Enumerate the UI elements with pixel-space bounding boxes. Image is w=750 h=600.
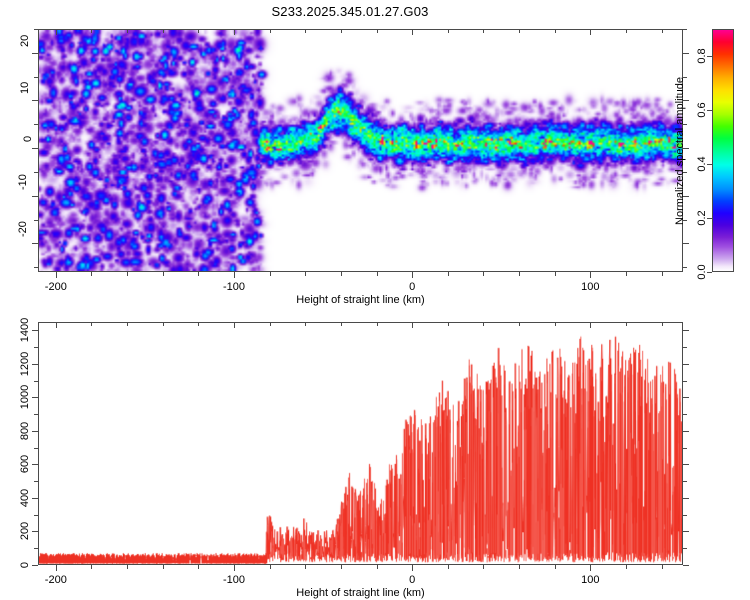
tick-x [127, 272, 128, 276]
tick-x [448, 272, 449, 276]
tick-x [519, 272, 520, 276]
tick-y-right [683, 431, 689, 432]
ytick-label: 600 [19, 455, 31, 473]
tick-x [412, 272, 413, 278]
xtick-label: 0 [409, 574, 415, 586]
xtick-label: 100 [581, 281, 599, 293]
tick-y-right [683, 548, 687, 549]
snr-plot-area [38, 322, 683, 565]
tick-x [91, 272, 92, 276]
tick-x [270, 272, 271, 276]
ytick-label: 400 [19, 489, 31, 507]
tick-x [127, 565, 128, 569]
tick-x [91, 565, 92, 569]
tick-x [198, 565, 199, 569]
tick-y-right [683, 531, 689, 532]
tick-x [590, 565, 591, 571]
tick-x [555, 272, 556, 276]
snr-canvas [39, 323, 682, 564]
tick-x [519, 565, 520, 569]
tick-x [377, 272, 378, 276]
figure-title: S233.2025.345.01.27.G03 [0, 4, 700, 19]
ytick-label: 10 [19, 82, 31, 94]
tick-x [56, 272, 57, 278]
tick-x [662, 565, 663, 569]
tick-y-right [683, 565, 689, 566]
xtick-label: -200 [45, 281, 67, 293]
ytick-label: 800 [19, 422, 31, 440]
tick-x [662, 272, 663, 276]
tick-x [483, 565, 484, 569]
tick-x [412, 565, 413, 571]
colorbar-title: Normalized spectral amplitude [674, 77, 686, 225]
colorbar-tick [707, 272, 712, 273]
tick-y-right [683, 364, 689, 365]
tick-y-right [683, 498, 689, 499]
ytick-label: 200 [19, 522, 31, 540]
colorbar-tick-label: 0.2 [696, 210, 708, 225]
tick-x [163, 565, 164, 569]
ytick-label: 0 [22, 136, 34, 142]
tick-y-right [683, 381, 687, 382]
tick-y-right [683, 29, 687, 30]
tick-x [198, 272, 199, 276]
ytick-label: 1000 [19, 385, 31, 409]
xtick-label: -100 [223, 281, 245, 293]
tick-x [626, 272, 627, 276]
ytick-label: 1400 [19, 318, 31, 342]
xtick-label: 0 [409, 281, 415, 293]
tick-x [341, 565, 342, 569]
tick-y-right [683, 53, 689, 54]
tick-x [448, 565, 449, 569]
figure-root: S233.2025.345.01.27.G03 -200-1000100-20-… [0, 0, 750, 600]
spectrogram-canvas [39, 30, 682, 271]
tick-x [483, 272, 484, 276]
tick-x [555, 565, 556, 569]
tick-y-right [683, 481, 687, 482]
snr-xaxis-title: Height of straight line (km) [296, 587, 424, 599]
tick-y-right [683, 243, 689, 244]
ytick-label: -20 [17, 222, 29, 238]
xtick-label: 100 [581, 574, 599, 586]
tick-x [234, 565, 235, 571]
tick-y-right [683, 267, 687, 268]
spectrogram-xaxis-title: Height of straight line (km) [296, 294, 424, 306]
tick-x [590, 272, 591, 278]
tick-y-right [683, 448, 687, 449]
tick-y-right [683, 414, 687, 415]
ytick-label: 20 [19, 35, 31, 47]
tick-y-right [683, 515, 687, 516]
tick-x [305, 565, 306, 569]
tick-x [377, 565, 378, 569]
tick-y-right [683, 347, 687, 348]
tick-x [234, 272, 235, 278]
ytick-label: 1200 [19, 352, 31, 376]
colorbar-tick-label: 0.8 [696, 48, 708, 63]
colorbar-tick-label: 0.6 [696, 102, 708, 117]
colorbar-tick-label: 0.4 [696, 156, 708, 171]
tick-x [305, 272, 306, 276]
colorbar [712, 29, 734, 272]
colorbar-tick-label: 0.0 [696, 264, 708, 279]
tick-x [56, 565, 57, 571]
ytick-label: -10 [17, 174, 29, 190]
xtick-label: -200 [45, 574, 67, 586]
tick-x [341, 272, 342, 276]
tick-y-right [683, 464, 689, 465]
tick-x [626, 565, 627, 569]
tick-y-right [683, 330, 689, 331]
spectrogram-plot-area [38, 29, 683, 272]
tick-y-right [683, 397, 689, 398]
tick-x [270, 565, 271, 569]
xtick-label: -100 [223, 574, 245, 586]
ytick-label: 0 [19, 562, 31, 568]
tick-y [32, 565, 38, 566]
tick-x [163, 272, 164, 276]
